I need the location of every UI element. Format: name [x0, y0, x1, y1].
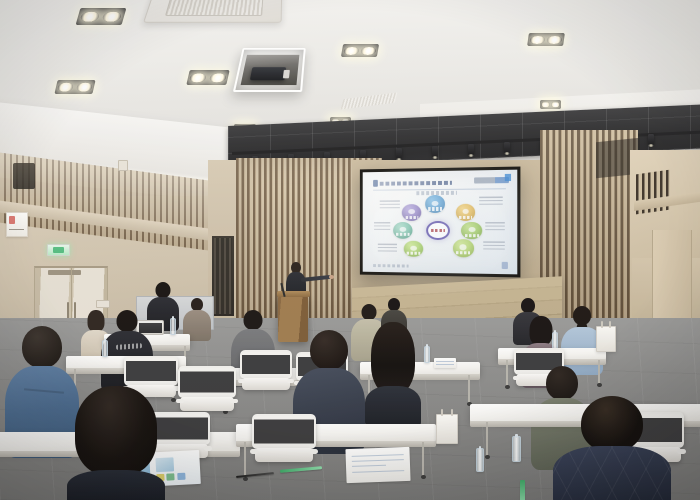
door-closer [48, 270, 81, 275]
recessed-double-spot-2 [186, 70, 229, 85]
attendee-center-long-hair [364, 322, 422, 426]
table-leg [486, 422, 488, 456]
ceiling-recessed-projector [233, 48, 306, 92]
diagram-label-top-left [380, 200, 400, 209]
emergency-exit-sign [47, 244, 70, 256]
slide-divider [373, 188, 506, 190]
wall-poster [6, 212, 28, 237]
brochure-swatch-2 [166, 473, 174, 480]
diagram-node-bottom-left [404, 240, 423, 257]
water-bottle [476, 448, 484, 472]
chair-row3-a[interactable] [240, 350, 292, 396]
recessed-double-spot-1 [76, 8, 127, 25]
table-leg [506, 360, 508, 386]
quilted-jacket [553, 446, 671, 500]
diagram-node-left [393, 222, 412, 239]
attendee-front-center-dark [66, 386, 166, 500]
recessed-double-spot-5 [527, 33, 565, 46]
diagram-label-bottom-right [483, 242, 505, 250]
recessed-double-spot-4 [341, 44, 379, 57]
attendee-front-right-quilted [552, 396, 672, 500]
table-leg [244, 442, 246, 478]
track-light-5 [396, 148, 402, 159]
slide-logo-mark-icon [505, 174, 511, 181]
paper-bag [436, 414, 458, 444]
diagram-node-bottom-right [453, 239, 474, 257]
track-light-7 [468, 144, 474, 155]
track-light-12 [648, 134, 654, 145]
recessed-downlight-8 [540, 100, 561, 109]
brochure-swatch-3 [177, 473, 185, 480]
projector-cavity [241, 55, 299, 85]
slide-footer-mark-icon [501, 262, 507, 269]
presenter-hand [329, 275, 334, 279]
diagram-center-hub [426, 221, 450, 240]
track-light-6 [432, 146, 438, 157]
paper-bag [596, 326, 616, 352]
diagram-label-right [485, 222, 504, 231]
water-bottle [170, 318, 176, 335]
wall-recess-dark [212, 236, 234, 316]
chair-row2-center[interactable] [178, 366, 236, 418]
wall-outlet-plate [118, 160, 128, 171]
wall-speaker [13, 163, 35, 189]
ceiling-ac-cassette [143, 0, 282, 23]
printed-handout [434, 358, 456, 368]
slide-title-text [380, 180, 452, 185]
table-leg [468, 375, 470, 403]
attendee-hair [75, 386, 157, 476]
highlighter-green[interactable] [520, 480, 525, 500]
water-bottle [512, 436, 521, 462]
projection-screen-frame [360, 167, 521, 278]
diagram-node-top [425, 195, 445, 213]
slide-title-bar [373, 179, 452, 187]
water-bottle [424, 346, 430, 363]
water-bottle [102, 340, 108, 357]
projector-body [250, 68, 287, 81]
wall-outlet-plate-2 [96, 300, 110, 308]
podium-top [277, 291, 310, 297]
projector-lens [283, 70, 290, 78]
ac-grille [165, 0, 264, 16]
slide-footer-text [373, 264, 409, 268]
chair-front-center-b[interactable] [252, 414, 316, 470]
slide-number-marker [373, 180, 378, 187]
slide-radial-diagram [392, 195, 485, 263]
diagram-label-left [374, 222, 390, 230]
track-light-8 [504, 142, 510, 153]
water-bottle [552, 332, 558, 349]
projection-screen [363, 170, 518, 275]
diagram-node-right [461, 222, 482, 240]
recessed-double-spot-3 [54, 80, 95, 94]
attendee-hair [371, 322, 415, 394]
diagram-label-top-right [479, 196, 502, 206]
printed-handout[interactable] [345, 447, 410, 483]
diagram-node-top-right [456, 204, 476, 221]
table-leg [598, 360, 600, 384]
diagram-node-top-left [402, 204, 421, 221]
lecture-hall-photo [0, 0, 700, 500]
table-leg [422, 442, 424, 476]
diagram-label-bottom-left [378, 243, 397, 252]
